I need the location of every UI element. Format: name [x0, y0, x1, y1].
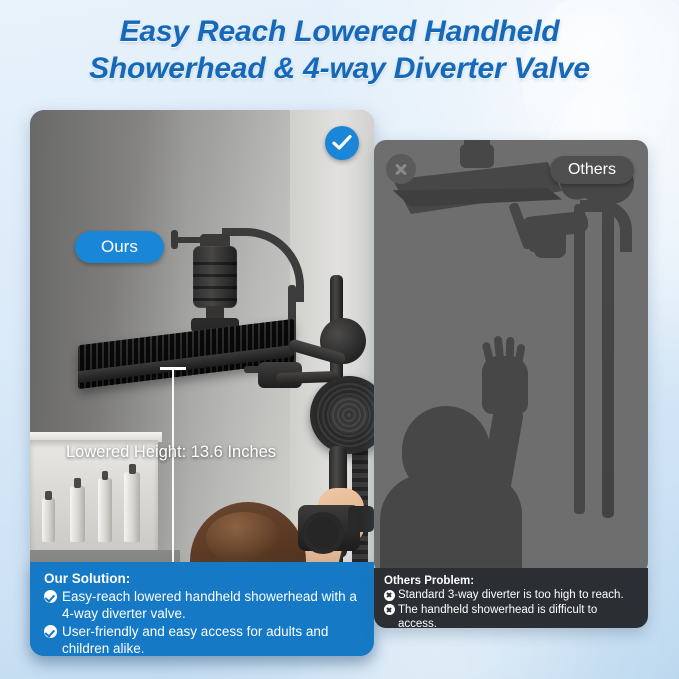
- silhouette-finger: [514, 343, 525, 364]
- handheld-holder-ring: [302, 512, 344, 554]
- handheld-showerhead: [310, 376, 374, 454]
- silhouette-slide-bar: [574, 204, 585, 514]
- filter-rib: [193, 274, 237, 277]
- others-bullet-text: The handheld showerhead is difficult to …: [398, 603, 638, 632]
- ours-caption-heading: Our Solution:: [44, 571, 360, 586]
- filter-rib: [193, 262, 237, 265]
- ours-caption-panel: Our Solution: Easy-reach lowered handhel…: [30, 562, 374, 656]
- child-hair-highlight: [206, 512, 282, 564]
- ours-bullet-text: Easy-reach lowered handheld showerhead w…: [62, 588, 360, 622]
- infographic-canvas: Easy Reach Lowered Handheld Showerhead &…: [0, 0, 679, 679]
- hose-clip: [348, 506, 374, 532]
- page-title: Easy Reach Lowered Handheld Showerhead &…: [0, 14, 679, 87]
- silhouette-child-body: [380, 474, 522, 574]
- x-icon: [384, 604, 395, 615]
- check-icon: [44, 625, 57, 638]
- ours-badge: Ours: [75, 231, 164, 263]
- others-caption-heading: Others Problem:: [384, 575, 638, 587]
- filter-rib: [193, 298, 237, 301]
- list-item: Easy-reach lowered handheld showerhead w…: [44, 588, 360, 622]
- list-item: User-friendly and easy access for adults…: [44, 623, 360, 657]
- silhouette-finger: [494, 336, 505, 363]
- others-bullet-text: Standard 3-way diverter is too high to r…: [398, 588, 624, 603]
- check-circle-icon: [325, 126, 359, 160]
- dimension-cap-top: [160, 367, 186, 370]
- silhouette-finger: [481, 341, 494, 364]
- x-circle-icon: [386, 154, 416, 184]
- check-icon: [44, 590, 57, 603]
- others-badge: Others: [550, 156, 634, 184]
- lowered-height-label: Lowered Height: 13.6 Inches: [66, 443, 276, 462]
- others-caption-panel: Others Problem: Standard 3-way diverter …: [374, 568, 648, 628]
- list-item: The handheld showerhead is difficult to …: [384, 603, 638, 632]
- x-icon: [384, 590, 395, 601]
- silhouette-filter: [460, 144, 494, 168]
- others-panel: Others: [374, 140, 648, 574]
- filter-rib: [193, 286, 237, 289]
- title-line-1: Easy Reach Lowered Handheld: [26, 14, 653, 51]
- silhouette-upper-hand: [534, 232, 566, 258]
- silhouette-hose: [602, 200, 614, 518]
- list-item: Standard 3-way diverter is too high to r…: [384, 588, 638, 603]
- title-line-2: Showerhead & 4-way Diverter Valve: [26, 51, 653, 88]
- silhouette-finger: [506, 337, 515, 362]
- ours-bullet-text: User-friendly and easy access for adults…: [62, 623, 360, 657]
